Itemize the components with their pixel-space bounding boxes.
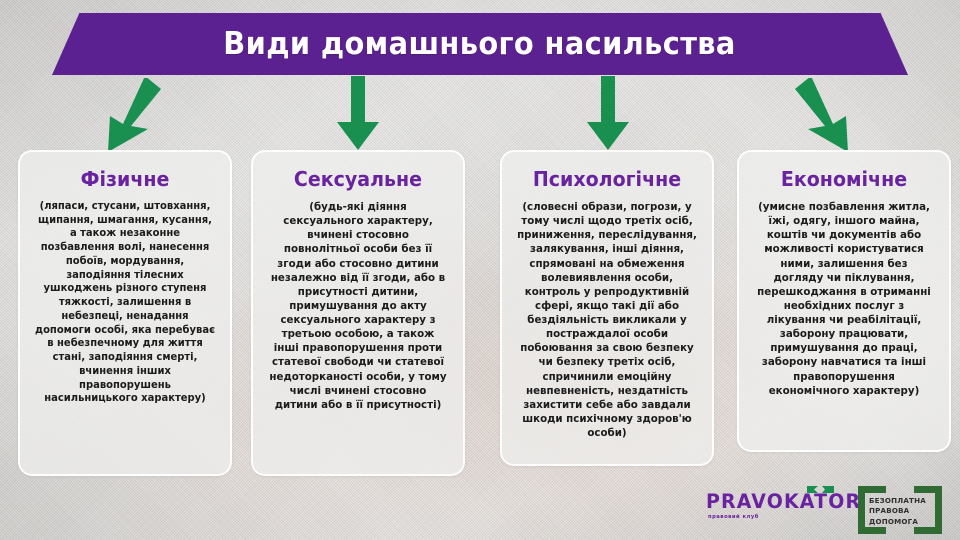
card-psychological-body: (словесні образи, погрози, у тому числі … (517, 200, 697, 440)
pravokator-subtitle: правовий клуб (708, 514, 838, 520)
arrow-to-physical-icon (98, 78, 168, 154)
card-economic: Економічне (умисне позбавлення житла, їж… (737, 150, 951, 452)
card-sexual-body: (будь-які діяння сексуального характеру,… (268, 200, 448, 412)
bpd-line-2: ПРАВОВА (869, 506, 933, 516)
pravokator-logo: PRAVOKATOR правовий клуб (706, 492, 838, 530)
arrow-to-psychological-icon (583, 76, 633, 152)
card-economic-body: (умисне позбавлення житла, їжі, одягу, і… (754, 200, 934, 398)
bpd-line-3: ДОПОМОГА (869, 517, 933, 527)
card-physical: Фізичне (ляпаси, стусани, штовхання, щип… (18, 150, 232, 476)
card-physical-body: (ляпаси, стусани, штовхання, щипання, шм… (35, 200, 215, 406)
card-psychological: Психологічне (словесні образи, погрози, … (500, 150, 714, 466)
card-economic-title: Економічне (755, 168, 934, 190)
infographic-poster: Види домашнього насильства Фізичне (ляпа… (0, 0, 960, 540)
free-legal-aid-text: БЕЗОПЛАТНА ПРАВОВА ДОПОМОГА (869, 496, 933, 527)
title-banner: Види домашнього насильства (52, 13, 908, 75)
card-sexual: Сексуальне (будь-які діяння сексуального… (251, 150, 465, 476)
arrow-to-sexual-icon (333, 76, 383, 152)
page-title: Види домашнього насильства (224, 26, 736, 62)
card-physical-title: Фізичне (36, 168, 215, 190)
bpd-line-1: БЕЗОПЛАТНА (869, 496, 933, 506)
card-psychological-title: Психологічне (518, 168, 697, 190)
card-sexual-title: Сексуальне (269, 168, 448, 190)
free-legal-aid-logo: БЕЗОПЛАТНА ПРАВОВА ДОПОМОГА (856, 484, 944, 536)
pravokator-wordmark: PRAVOKATOR (706, 492, 834, 512)
arrow-to-economic-icon (793, 78, 863, 154)
